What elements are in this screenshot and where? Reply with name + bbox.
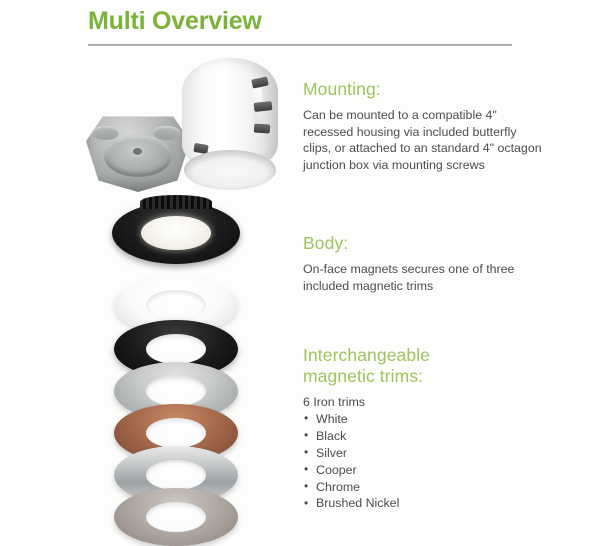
junction-box-knockout (92, 126, 119, 139)
recessed-housing-can-icon (178, 58, 282, 194)
list-item: White (303, 411, 543, 428)
trim-aperture (146, 418, 206, 448)
butterfly-clip (254, 123, 271, 133)
led-body-unit-icon (112, 202, 240, 264)
trims-heading-line2: magnetic trims: (303, 366, 423, 386)
list-item: Cooper (303, 462, 543, 479)
section-mounting: Mounting: Can be mounted to a compatible… (303, 78, 543, 173)
trim-aperture (146, 290, 206, 320)
trims-bullet-list: White Black Silver Cooper Chrome Brushed… (303, 411, 543, 512)
page-header: Multi Overview (88, 6, 512, 46)
section-interchangeable-trims: Interchangeable magnetic trims: 6 Iron t… (303, 345, 543, 512)
trims-heading-line1: Interchangeable (303, 345, 430, 365)
mounting-heading: Mounting: (303, 78, 543, 100)
list-item: Chrome (303, 479, 543, 496)
trims-list-block: 6 Iron trims White Black Silver Cooper C… (303, 394, 543, 512)
octagon-junction-box-icon (86, 110, 190, 192)
product-artwork-column (78, 52, 290, 530)
trim-aperture (146, 502, 206, 532)
trims-heading: Interchangeable magnetic trims: (303, 345, 543, 387)
trim-stack-illustration (78, 202, 290, 532)
junction-box-ring (104, 135, 173, 178)
trim-aperture (146, 376, 206, 406)
page-root: Multi Overview (0, 0, 600, 535)
mounting-description: Can be mounted to a compatible 4" recess… (303, 107, 543, 173)
can-inner-aperture (194, 158, 266, 184)
page-title: Multi Overview (88, 6, 512, 36)
housing-photo (78, 52, 290, 212)
body-description: On-face magnets secures one of three inc… (303, 261, 543, 294)
trim-aperture (146, 460, 206, 490)
trim-aperture (146, 334, 206, 364)
body-heading: Body: (303, 232, 543, 254)
section-body: Body: On-face magnets secures one of thr… (303, 232, 543, 294)
list-item: Brushed Nickel (303, 495, 543, 512)
heatsink-fins (140, 195, 212, 209)
led-lens (141, 216, 210, 251)
title-divider (88, 44, 512, 46)
butterfly-clip (254, 101, 273, 112)
trim-ring-brushed-nickel (114, 488, 238, 546)
list-item: Silver (303, 445, 543, 462)
trims-intro: 6 Iron trims (303, 394, 543, 411)
list-item: Black (303, 428, 543, 445)
